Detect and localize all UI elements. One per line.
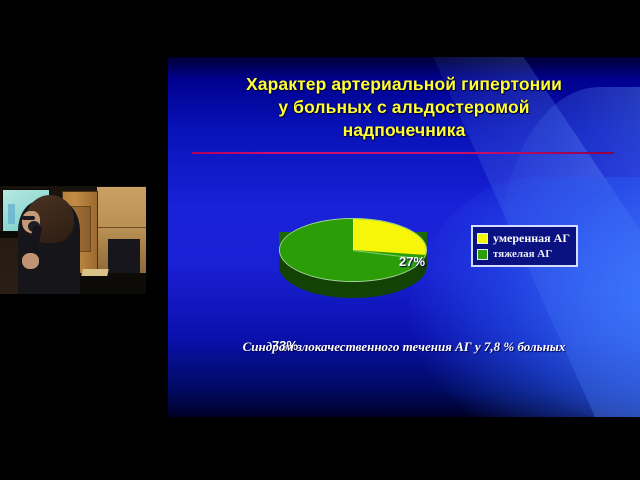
slide-canvas: Характер артериальной гипертонии у больн…	[168, 57, 640, 417]
legend-item-moderate: умеренная АГ	[477, 230, 570, 246]
video-speaker-hand	[22, 253, 39, 269]
video-edge-right	[146, 181, 148, 300]
slide-title: Характер артериальной гипертонии у больн…	[168, 73, 640, 142]
slide-title-line-3: надпочечника	[168, 119, 640, 142]
video-papers	[81, 269, 108, 276]
pie-slice-divider-top	[353, 219, 354, 250]
title-divider-line	[192, 152, 614, 154]
video-letterbox-bottom	[0, 294, 148, 300]
legend-item-severe: тяжелая АГ	[477, 246, 570, 262]
pie-label-moderate: 27%	[399, 254, 425, 269]
slide-title-line-2: у больных с альдостеромой	[168, 96, 640, 119]
pie-top-face	[279, 218, 427, 282]
legend-label-moderate: умеренная АГ	[493, 231, 570, 246]
background-swoosh-lower	[408, 177, 640, 417]
presentation-video-frame: Характер артериальной гипертонии у больн…	[0, 0, 640, 480]
legend-swatch-moderate-icon	[477, 233, 488, 244]
legend-label-severe: тяжелая АГ	[493, 248, 552, 260]
video-panel-seam	[97, 227, 148, 228]
video-chair	[108, 239, 140, 273]
pie-chart	[273, 192, 433, 302]
slide-title-line-1: Характер артериальной гипертонии	[168, 73, 640, 96]
legend-swatch-severe-icon	[477, 249, 488, 260]
slide-caption: Синдром злокачественного течения АГ у 7,…	[168, 339, 640, 355]
chart-legend: умеренная АГ тяжелая АГ	[471, 225, 578, 267]
video-speaker-glasses	[22, 216, 35, 220]
video-projection-content	[8, 204, 15, 224]
video-letterbox-top	[0, 181, 148, 186]
speaker-video-inset	[0, 181, 148, 300]
